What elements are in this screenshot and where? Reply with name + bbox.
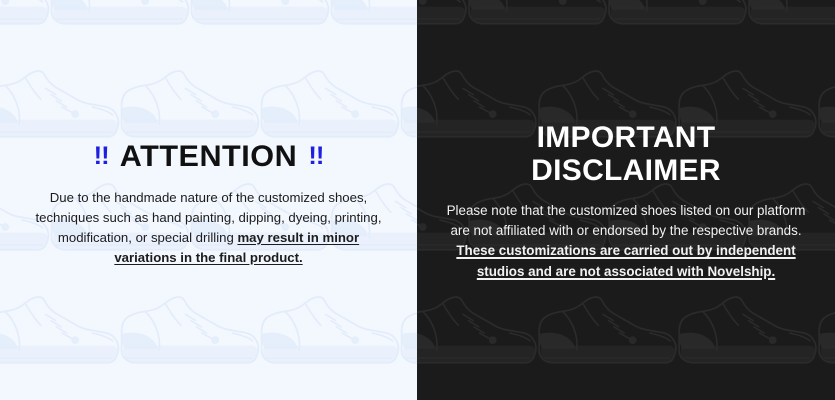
attention-body: Due to the handmade nature of the custom… [34, 188, 383, 268]
disclaimer-content: IMPORTANT DISCLAIMER Please note that th… [417, 122, 835, 281]
attention-heading: !!ATTENTION!! [31, 142, 387, 172]
disclaimer-heading: IMPORTANT DISCLAIMER [445, 122, 807, 187]
disclaimer-banner: !!ATTENTION!! Due to the handmade nature… [0, 0, 835, 400]
disclaimer-heading-line2: DISCLAIMER [445, 155, 807, 187]
attention-panel: !!ATTENTION!! Due to the handmade nature… [0, 0, 417, 400]
disclaimer-heading-line1: IMPORTANT [445, 122, 807, 154]
disclaimer-body: Please note that the customized shoes li… [445, 201, 807, 281]
double-exclamation-icon-right: !! [308, 142, 323, 170]
disclaimer-body-emphasis: These customizations are carried out by … [456, 243, 795, 278]
disclaimer-body-normal: Please note that the customized shoes li… [447, 203, 806, 238]
attention-heading-text: ATTENTION [120, 140, 297, 173]
disclaimer-panel: IMPORTANT DISCLAIMER Please note that th… [417, 0, 835, 400]
double-exclamation-icon-left: !! [94, 142, 109, 170]
attention-content: !!ATTENTION!! Due to the handmade nature… [0, 142, 417, 268]
